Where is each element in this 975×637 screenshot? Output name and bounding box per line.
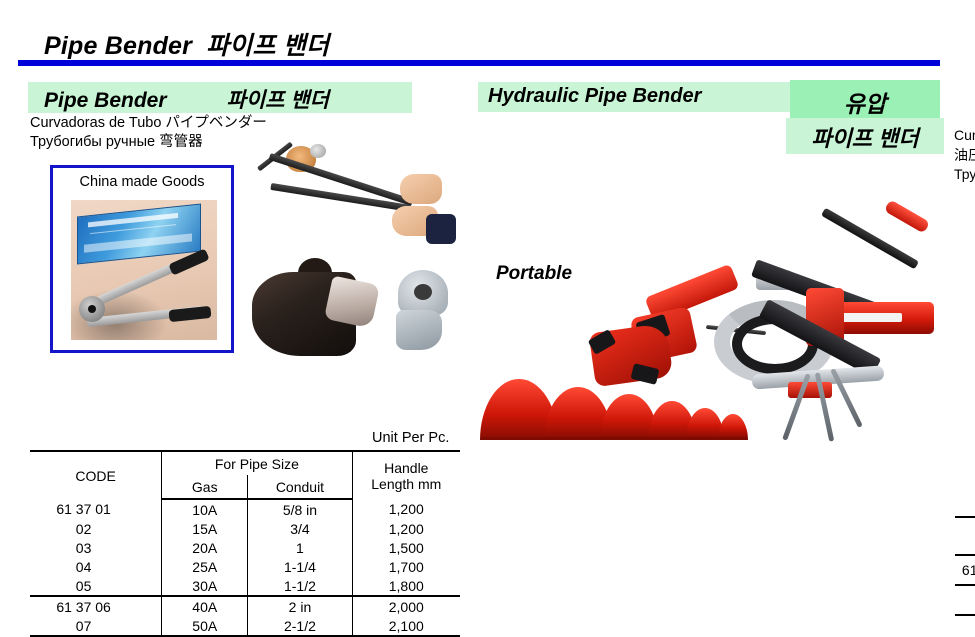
table-row: 61 37 11 10 60 20A, 25A, 32A, 40A & 50A [955, 555, 975, 585]
cell-code: 02 [30, 519, 162, 538]
right-section-banner: Hydraulic Pipe Bender [478, 82, 793, 112]
cell-conduit: 1 [248, 538, 352, 557]
cell-conduit: 1-1/2 [248, 576, 352, 596]
left-section-banner: Pipe Bender파이프 밴더 [28, 82, 412, 113]
right-banner-title-kr-top: 유압 [790, 85, 940, 119]
right-banner-kr-top-block: 유압 [790, 80, 940, 118]
cell-code: 12 [955, 585, 975, 615]
right-product-section: Hydraulic Pipe Bender 파이프 밴더 유압 Curvador… [470, 78, 975, 578]
cell-gas: 30A [162, 576, 248, 596]
table-row: 12 20 150 65A, 80A & 100A [955, 585, 975, 615]
header-handle-line-2: Length mm [353, 476, 460, 492]
hand-bender-illustration [248, 140, 458, 250]
right-banner-kr-bottom-block: 파이프 밴더 [786, 118, 944, 154]
cell-handle: 2,000 [352, 596, 460, 616]
cell-handle: 1,500 [352, 538, 460, 557]
table-row: 07 50A 2-1/2 2,100 [30, 616, 460, 636]
table-row: 02 15A 3/4 1,200 [30, 519, 460, 538]
right-banner-title-en: Hydraulic Pipe Bender [488, 85, 701, 108]
right-subtitle-line-2: 油圧パイプベンダー 液圧弯管器 [954, 146, 975, 166]
operator-hand-upper-graphic [400, 174, 442, 204]
grey-bending-shoe-photo [394, 270, 452, 352]
cell-gas: 50A [162, 616, 248, 636]
left-spec-table: CODE For Pipe Size Handle Length mm Gas … [30, 450, 460, 637]
left-banner-title-kr: 파이프 밴더 [227, 89, 329, 112]
left-subtitle-line-1: Curvadoras de Tubo パイプベンダー [30, 114, 267, 133]
cell-code: 61 37 11 [955, 555, 975, 585]
catalog-page: Pipe Bender파이프 밴더 Pipe Bender파이프 밴더 Curv… [0, 0, 975, 579]
cell-code: 05 [30, 576, 162, 596]
cell-conduit: 2 in [248, 596, 352, 616]
cell-gas: 40A [162, 596, 248, 616]
china-made-goods-photo-frame: China made Goods [50, 165, 234, 353]
header-gas: Gas [162, 475, 248, 499]
left-product-section: Pipe Bender파이프 밴더 Curvadoras de Tubo パイプ… [0, 78, 470, 578]
cell-code: 03 [30, 538, 162, 557]
right-subtitle-line-3: Трубогибы гидравлические [954, 165, 975, 185]
product-carton-graphic [77, 203, 201, 264]
unit-per-piece-note: Unit Per Pc. [372, 430, 449, 446]
table-row: 61 37 01 10A 5/8 in 1,200 [30, 499, 460, 519]
operator-sleeve-graphic [426, 214, 456, 244]
bender-roller-graphic [310, 144, 326, 158]
right-subtitle-line-1: Curvadoras de Tubo Hidráulicos / Portáti… [954, 126, 975, 146]
cell-conduit: 5/8 in [248, 499, 352, 519]
table-header-row: CODE Power Tons Weight Kgs Standard Atta… [955, 517, 975, 555]
portable-label: Portable [496, 263, 572, 285]
left-subtitle-block: Curvadoras de Tubo パイプベンダー Трубогибы руч… [30, 114, 267, 152]
cell-conduit: 3/4 [248, 519, 352, 538]
page-title: Pipe Bender파이프 밴더 [44, 26, 329, 62]
right-banner-title-kr-bottom: 파이프 밴더 [786, 121, 944, 153]
cell-gas: 10A [162, 499, 248, 519]
hydraulic-pipe-bender-photo [698, 230, 948, 440]
black-bending-shoe-photo [252, 254, 380, 364]
left-banner-title-en: Pipe Bender [44, 89, 167, 112]
cell-code: 07 [30, 616, 162, 636]
cell-gas: 20A [162, 538, 248, 557]
cell-conduit: 2-1/2 [248, 616, 352, 636]
table-header-row-top: CODE For Pipe Size Handle Length mm [30, 451, 460, 475]
page-title-kr: 파이프 밴더 [206, 32, 329, 60]
cell-handle: 1,700 [352, 557, 460, 576]
table-row: 03 20A 1 1,500 [30, 538, 460, 557]
china-made-goods-caption: China made Goods [53, 174, 231, 190]
cell-handle: 1,200 [352, 519, 460, 538]
cell-gas: 25A [162, 557, 248, 576]
table-row: 61 37 06 40A 2 in 2,000 [30, 596, 460, 616]
cell-handle: 1,200 [352, 499, 460, 519]
cell-handle: 1,800 [352, 576, 460, 596]
header-divider-rule [18, 60, 940, 66]
right-subtitle-block: Curvadoras de Tubo Hidráulicos / Portáti… [954, 126, 975, 185]
table-row: 04 25A 1-1/4 1,700 [30, 557, 460, 576]
header-code: CODE [955, 517, 975, 555]
header-handle-line-1: Handle [353, 460, 460, 476]
cell-code: 04 [30, 557, 162, 576]
cell-code: 61 37 01 [30, 499, 162, 519]
header-code: CODE [30, 451, 162, 499]
cell-conduit: 1-1/4 [248, 557, 352, 576]
cell-code: 61 37 06 [30, 596, 162, 616]
bender-head-graphic [79, 296, 105, 322]
page-title-en: Pipe Bender [44, 32, 192, 60]
header-pipe-size-group: For Pipe Size [162, 451, 352, 475]
table-row: 05 30A 1-1/2 1,800 [30, 576, 460, 596]
cell-gas: 15A [162, 519, 248, 538]
header-conduit: Conduit [248, 475, 352, 499]
cell-handle: 2,100 [352, 616, 460, 636]
left-subtitle-line-2: Трубогибы ручные 弯管器 [30, 133, 267, 152]
header-handle-length: Handle Length mm [352, 451, 460, 499]
china-made-goods-photo [71, 200, 217, 340]
right-spec-table: CODE Power Tons Weight Kgs Standard Atta… [955, 516, 975, 616]
